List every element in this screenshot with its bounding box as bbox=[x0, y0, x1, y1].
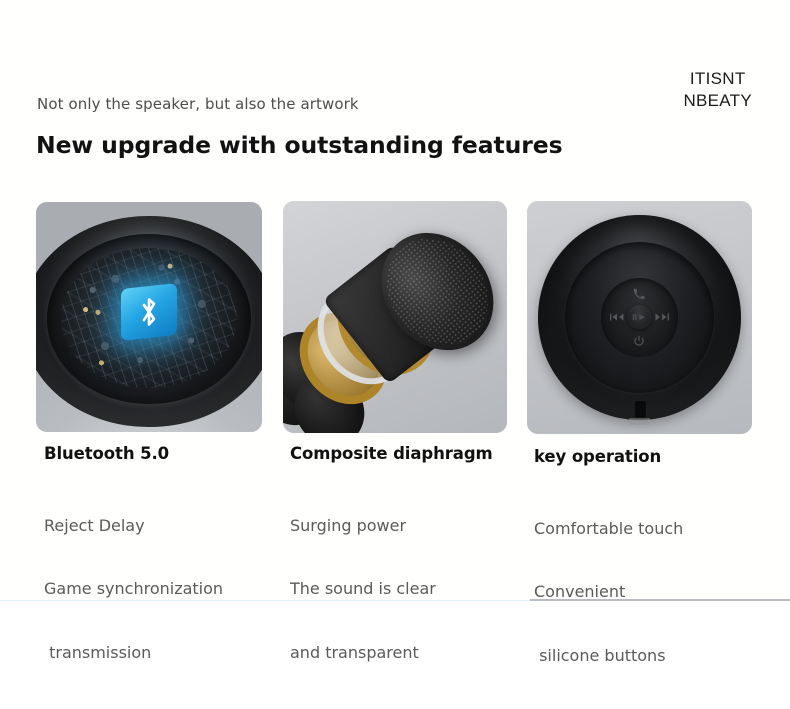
previous-track-icon bbox=[609, 312, 624, 322]
power-icon bbox=[633, 335, 645, 347]
feature-caption-keys: key operation Comfortable touch Convenie… bbox=[534, 447, 683, 709]
next-track-icon bbox=[655, 312, 670, 322]
feature-description-line: Game synchronization bbox=[44, 578, 223, 599]
feature-title: key operation bbox=[534, 447, 683, 466]
feature-description-line: and transparent bbox=[290, 642, 493, 663]
feature-description-line: silicone buttons bbox=[534, 645, 683, 666]
feature-caption-diaphragm: Composite diaphragm Surging power The so… bbox=[290, 444, 493, 706]
charging-port bbox=[635, 401, 646, 417]
speaker-topview-photo bbox=[527, 201, 752, 434]
bluetooth-chip bbox=[121, 283, 177, 341]
feature-description: Reject Delay Game synchronization transm… bbox=[44, 472, 223, 706]
feature-description: Comfortable touch Convenient silicone bu… bbox=[534, 475, 683, 709]
phone-call-icon bbox=[633, 288, 645, 300]
feature-description-line: Reject Delay bbox=[44, 515, 223, 536]
feature-image-keys bbox=[527, 201, 752, 434]
feature-image-diaphragm bbox=[283, 201, 507, 433]
feature-description: Surging power The sound is clear and tra… bbox=[290, 472, 493, 706]
bottom-divider-right bbox=[530, 599, 790, 601]
feature-description-line: Surging power bbox=[290, 515, 493, 536]
bottom-divider bbox=[0, 600, 530, 601]
speaker-driver-photo bbox=[283, 201, 507, 433]
feature-image-bluetooth bbox=[36, 202, 262, 432]
control-pad bbox=[601, 278, 679, 357]
play-pause-button bbox=[628, 306, 651, 330]
feature-title: Composite diaphragm bbox=[290, 444, 493, 463]
product-label bbox=[629, 418, 649, 425]
play-pause-icon bbox=[631, 312, 647, 322]
feature-description-line: Comfortable touch bbox=[534, 518, 683, 539]
speaker-circuit-photo bbox=[36, 202, 262, 432]
feature-description-line: The sound is clear bbox=[290, 578, 493, 599]
speaker-body bbox=[538, 215, 741, 420]
bluetooth-icon bbox=[138, 296, 160, 328]
driver-component-stack bbox=[283, 201, 507, 433]
speaker-top-ring bbox=[565, 242, 715, 394]
feature-caption-bluetooth: Bluetooth 5.0 Reject Delay Game synchron… bbox=[44, 444, 223, 706]
feature-description-line: transmission bbox=[44, 642, 223, 663]
feature-title: Bluetooth 5.0 bbox=[44, 444, 223, 463]
